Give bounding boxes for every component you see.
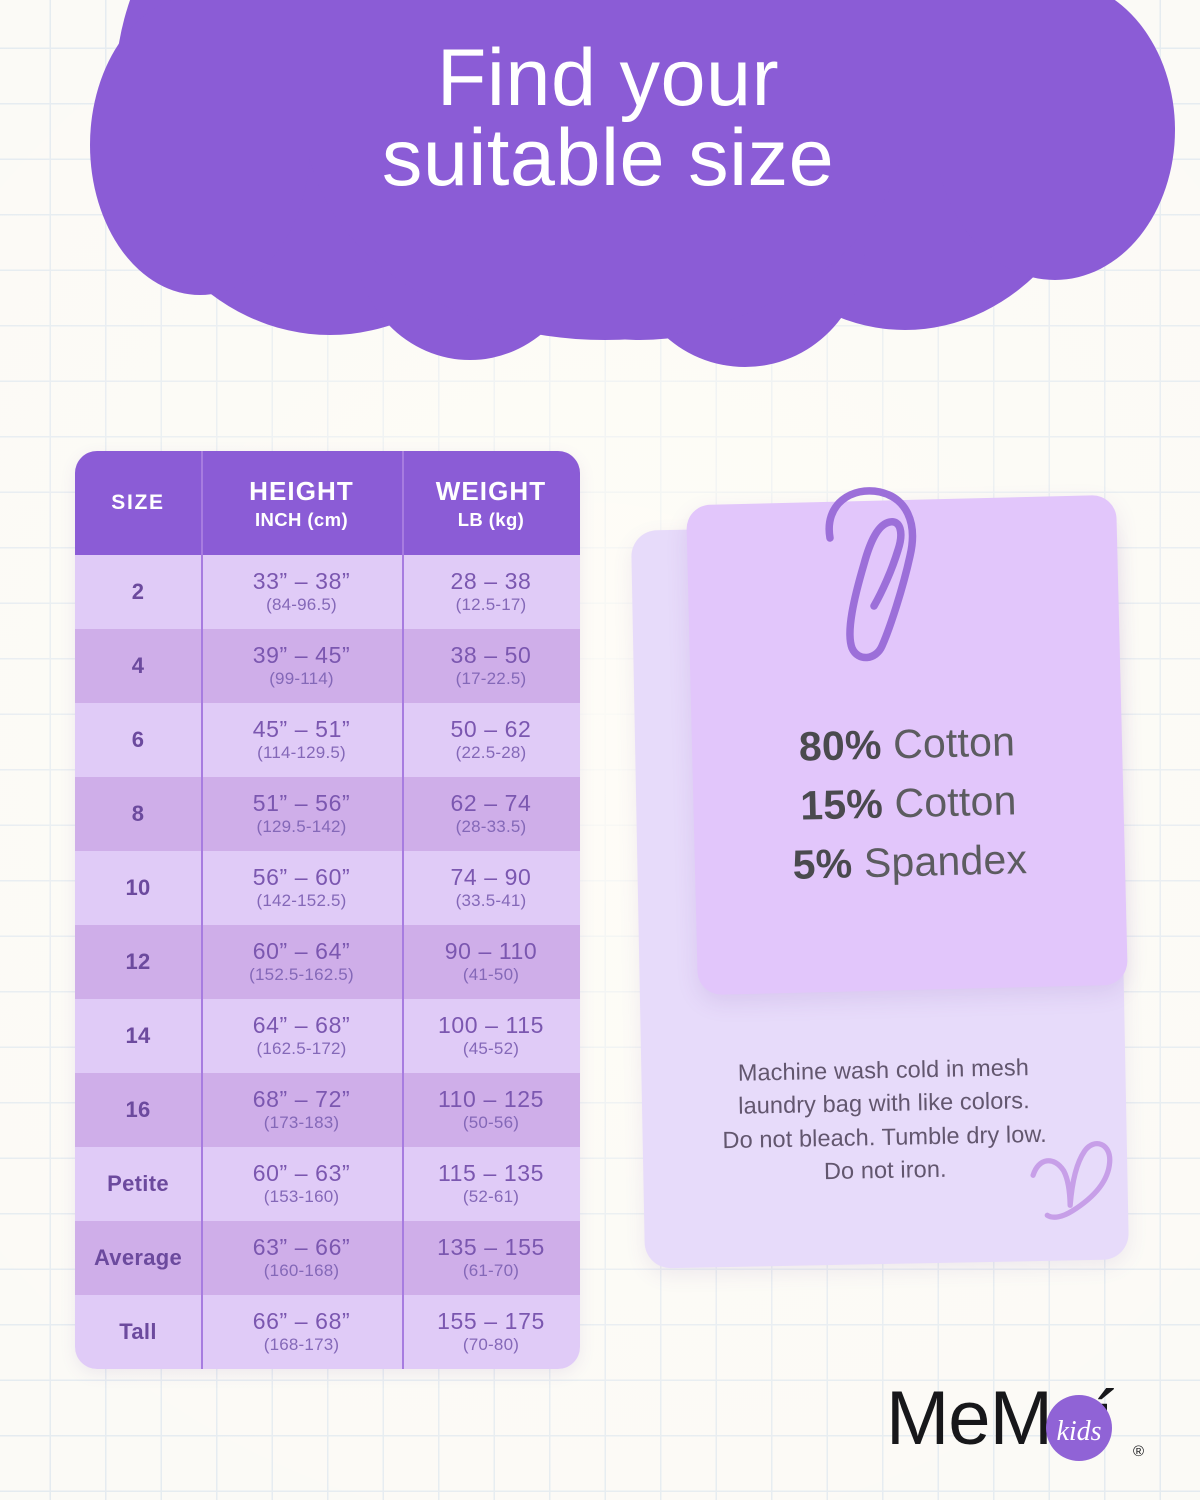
weight-lb: 90 – 110 — [445, 939, 538, 963]
column-header-weight-label: WEIGHT — [436, 476, 547, 507]
size-value: 14 — [125, 1023, 150, 1049]
height-inches: 63” – 66” — [253, 1235, 350, 1259]
cell-size: 16 — [75, 1073, 201, 1147]
table-row: 16 68” – 72”(173-183) 110 – 125(50-56) — [75, 1073, 580, 1147]
table-row: Petite 60” – 63”(153-160) 115 – 135(52-6… — [75, 1147, 580, 1221]
height-inches: 60” – 63” — [253, 1161, 350, 1185]
info-card-stack: Machine wash cold in mesh laundry bag wi… — [620, 500, 1140, 1280]
weight-lb: 62 – 74 — [451, 791, 532, 815]
column-header-height-label: HEIGHT — [249, 476, 354, 507]
table-row: 4 39” – 45”(99-114) 38 – 50(17-22.5) — [75, 629, 580, 703]
composition-line: 5% Spandex — [694, 828, 1125, 898]
composition-material: Cotton — [882, 777, 1017, 826]
weight-kg: (33.5-41) — [456, 891, 527, 911]
size-value: 8 — [132, 801, 145, 827]
logo-trademark-symbol: ® — [1133, 1443, 1144, 1460]
cell-height: 66” – 68”(168-173) — [201, 1295, 402, 1369]
weight-lb: 100 – 115 — [438, 1013, 544, 1037]
size-value: Tall — [119, 1319, 156, 1345]
weight-kg: (28-33.5) — [456, 817, 527, 837]
weight-kg: (17-22.5) — [456, 669, 527, 689]
heart-doodle-icon — [1025, 1129, 1123, 1227]
height-cm: (162.5-172) — [256, 1039, 346, 1059]
size-value: 12 — [125, 949, 150, 975]
size-value: 2 — [132, 579, 145, 605]
composition-percent: 80% — [798, 722, 882, 770]
height-cm: (153-160) — [264, 1187, 340, 1207]
cell-size: 14 — [75, 999, 201, 1073]
cell-height: 60” – 63”(153-160) — [201, 1147, 402, 1221]
cell-weight: 50 – 62(22.5-28) — [402, 703, 580, 777]
cell-height: 68” – 72”(173-183) — [201, 1073, 402, 1147]
table-row: 12 60” – 64”(152.5-162.5) 90 – 110(41-50… — [75, 925, 580, 999]
weight-lb: 50 – 62 — [451, 717, 532, 741]
weight-kg: (61-70) — [463, 1261, 519, 1281]
height-inches: 66” – 68” — [253, 1309, 350, 1333]
height-cm: (99-114) — [269, 669, 334, 689]
height-cm: (173-183) — [264, 1113, 340, 1133]
column-header-size: SIZE — [75, 451, 201, 555]
size-value: 10 — [125, 875, 150, 901]
composition-material: Cotton — [881, 718, 1016, 767]
cell-height: 45” – 51”(114-129.5) — [201, 703, 402, 777]
weight-kg: (22.5-28) — [456, 743, 527, 763]
height-inches: 60” – 64” — [253, 939, 350, 963]
cell-height: 33” – 38”(84-96.5) — [201, 555, 402, 629]
height-cm: (142-152.5) — [256, 891, 346, 911]
size-value: 6 — [132, 727, 145, 753]
cell-size: Petite — [75, 1147, 201, 1221]
cell-height: 39” – 45”(99-114) — [201, 629, 402, 703]
weight-kg: (41-50) — [463, 965, 519, 985]
cell-weight: 90 – 110(41-50) — [402, 925, 580, 999]
height-inches: 33” – 38” — [253, 569, 350, 593]
height-cm: (114-129.5) — [257, 743, 346, 763]
table-row: 10 56” – 60”(142-152.5) 74 – 90(33.5-41) — [75, 851, 580, 925]
weight-lb: 115 – 135 — [438, 1161, 544, 1185]
column-header-weight: WEIGHT LB (kg) — [402, 451, 580, 555]
weight-kg: (52-61) — [463, 1187, 519, 1207]
cell-weight: 155 – 175(70-80) — [402, 1295, 580, 1369]
cell-weight: 110 – 125(50-56) — [402, 1073, 580, 1147]
cell-weight: 100 – 115(45-52) — [402, 999, 580, 1073]
cell-weight: 28 – 38(12.5-17) — [402, 555, 580, 629]
size-chart-table: SIZE HEIGHT INCH (cm) WEIGHT LB (kg) 2 3… — [75, 451, 580, 1369]
cell-height: 60” – 64”(152.5-162.5) — [201, 925, 402, 999]
height-inches: 56” – 60” — [253, 865, 350, 889]
composition-line: 80% Cotton — [691, 710, 1122, 780]
composition-percent: 15% — [800, 781, 884, 829]
size-value: Average — [94, 1245, 182, 1271]
page-title: Find your suitable size — [0, 38, 1200, 198]
column-header-height-units: INCH (cm) — [255, 509, 348, 531]
cell-height: 63” – 66”(160-168) — [201, 1221, 402, 1295]
composition-percent: 5% — [792, 840, 853, 887]
weight-lb: 38 – 50 — [451, 643, 532, 667]
cell-size: 12 — [75, 925, 201, 999]
weight-kg: (45-52) — [463, 1039, 519, 1059]
memoi-kids-logo: MeMoí kids ® — [886, 1376, 1158, 1472]
table-row: 2 33” – 38”(84-96.5) 28 – 38(12.5-17) — [75, 555, 580, 629]
size-value: 4 — [132, 653, 145, 679]
composition-material: Spandex — [852, 836, 1028, 886]
table-row: Average 63” – 66”(160-168) 135 – 155(61-… — [75, 1221, 580, 1295]
cell-size: 8 — [75, 777, 201, 851]
height-cm: (160-168) — [264, 1261, 340, 1281]
table-row: Tall 66” – 68”(168-173) 155 – 175(70-80) — [75, 1295, 580, 1369]
cell-weight: 62 – 74(28-33.5) — [402, 777, 580, 851]
column-header-size-label: SIZE — [111, 491, 164, 515]
weight-lb: 155 – 175 — [437, 1309, 545, 1333]
weight-lb: 110 – 125 — [438, 1087, 544, 1111]
composition-line: 15% Cotton — [693, 769, 1124, 839]
weight-lb: 135 – 155 — [437, 1235, 545, 1259]
weight-kg: (50-56) — [463, 1113, 519, 1133]
cell-size: 4 — [75, 629, 201, 703]
height-inches: 68” – 72” — [253, 1087, 350, 1111]
cell-weight: 38 – 50(17-22.5) — [402, 629, 580, 703]
height-inches: 45” – 51” — [253, 717, 350, 741]
cell-size: 6 — [75, 703, 201, 777]
table-row: 8 51” – 56”(129.5-142) 62 – 74(28-33.5) — [75, 777, 580, 851]
paperclip-icon — [808, 480, 938, 670]
weight-lb: 74 – 90 — [451, 865, 532, 889]
height-inches: 51” – 56” — [253, 791, 350, 815]
height-inches: 64” – 68” — [253, 1013, 350, 1037]
table-row: 6 45” – 51”(114-129.5) 50 – 62(22.5-28) — [75, 703, 580, 777]
weight-kg: (12.5-17) — [456, 595, 527, 615]
cell-size: 10 — [75, 851, 201, 925]
cell-height: 51” – 56”(129.5-142) — [201, 777, 402, 851]
cell-size: Average — [75, 1221, 201, 1295]
column-header-weight-units: LB (kg) — [458, 509, 525, 531]
cell-weight: 135 – 155(61-70) — [402, 1221, 580, 1295]
column-header-height: HEIGHT INCH (cm) — [201, 451, 402, 555]
fabric-composition-list: 80% Cotton 15% Cotton 5% Spandex — [691, 710, 1125, 898]
cell-size: Tall — [75, 1295, 201, 1369]
size-value: Petite — [107, 1171, 169, 1197]
table-row: 14 64” – 68”(162.5-172) 100 – 115(45-52) — [75, 999, 580, 1073]
cell-height: 56” – 60”(142-152.5) — [201, 851, 402, 925]
height-cm: (152.5-162.5) — [249, 965, 354, 985]
height-cm: (168-173) — [264, 1335, 340, 1355]
logo-kids-badge-label: kids — [1056, 1416, 1101, 1447]
table-header-row: SIZE HEIGHT INCH (cm) WEIGHT LB (kg) — [75, 451, 580, 555]
weight-lb: 28 – 38 — [451, 569, 532, 593]
cell-weight: 115 – 135(52-61) — [402, 1147, 580, 1221]
cell-height: 64” – 68”(162.5-172) — [201, 999, 402, 1073]
size-value: 16 — [125, 1097, 150, 1123]
cell-weight: 74 – 90(33.5-41) — [402, 851, 580, 925]
cell-size: 2 — [75, 555, 201, 629]
height-cm: (129.5-142) — [256, 817, 346, 837]
height-cm: (84-96.5) — [266, 595, 337, 615]
height-inches: 39” – 45” — [253, 643, 350, 667]
weight-kg: (70-80) — [463, 1335, 519, 1355]
